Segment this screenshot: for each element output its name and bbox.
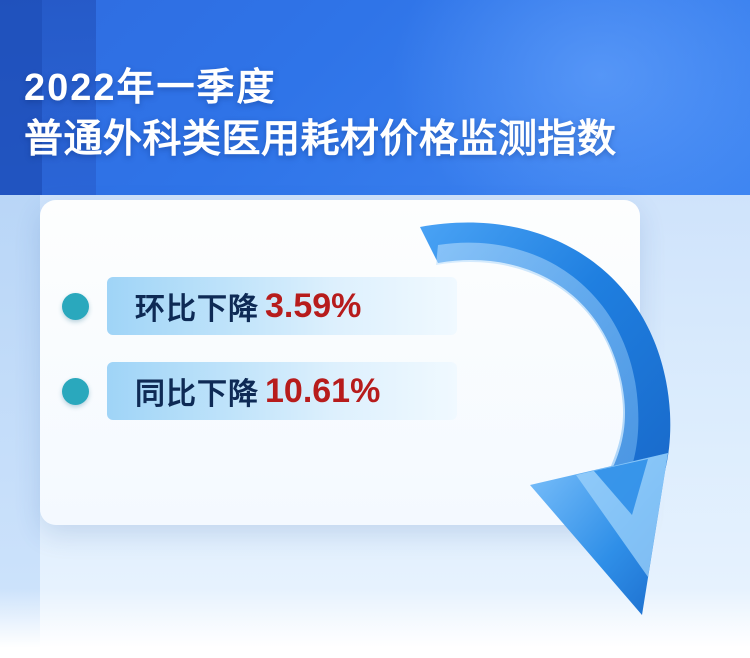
- poster-canvas: 2022年一季度 普通外科类医用耗材价格监测指数 环比下降 3.59% 同比下降…: [0, 0, 750, 658]
- bullet-dot-icon: [62, 293, 89, 320]
- bottom-fade: [0, 588, 750, 658]
- list-item: 环比下降 3.59%: [62, 277, 532, 335]
- title-line-1: 2022年一季度: [24, 62, 734, 114]
- stat-value: 3.59%: [265, 287, 361, 326]
- list-item: 同比下降 10.61%: [62, 362, 532, 420]
- stat-pill: 同比下降 10.61%: [107, 362, 457, 420]
- stat-label: 同比下降: [135, 369, 259, 413]
- stat-pill: 环比下降 3.59%: [107, 277, 457, 335]
- bullet-dot-icon: [62, 378, 89, 405]
- title-line-2: 普通外科类医用耗材价格监测指数: [24, 114, 734, 166]
- stat-label: 环比下降: [135, 284, 259, 328]
- stat-value: 10.61%: [265, 372, 380, 411]
- stats-list: 环比下降 3.59% 同比下降 10.61%: [62, 277, 532, 447]
- page-title: 2022年一季度 普通外科类医用耗材价格监测指数: [24, 62, 734, 166]
